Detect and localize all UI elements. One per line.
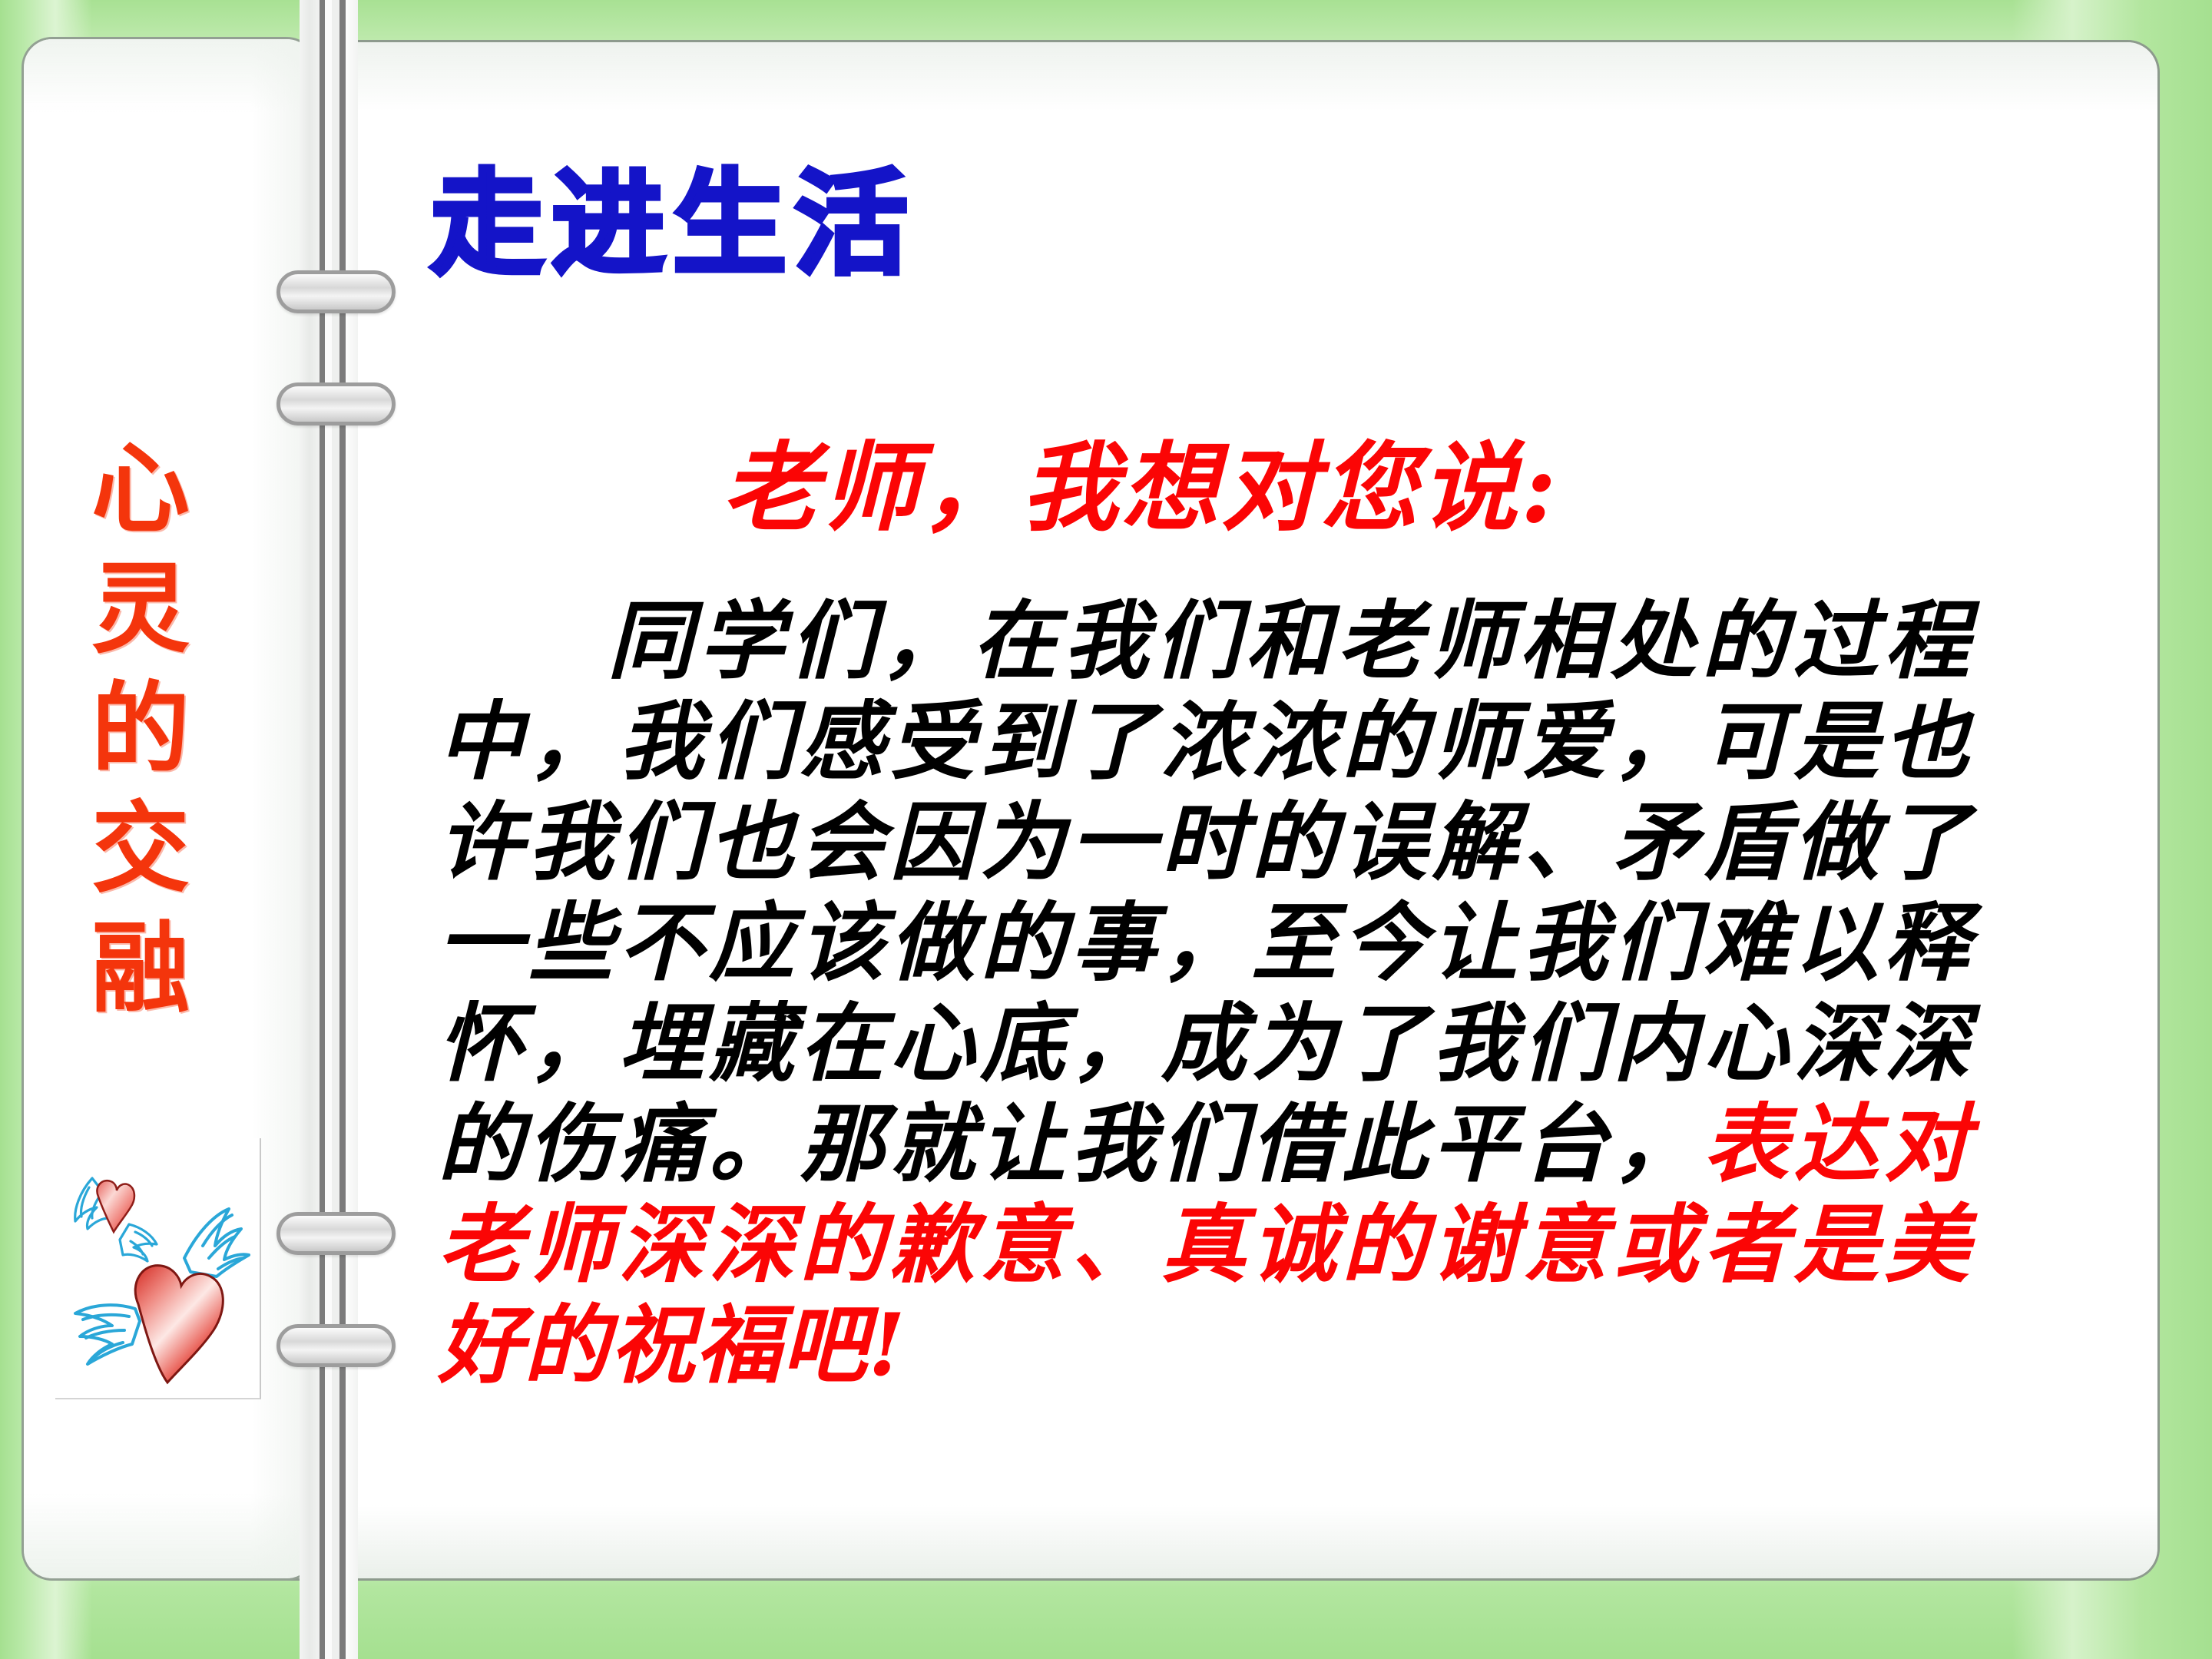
spine-band-1 <box>300 0 320 1659</box>
spine-band-2 <box>325 0 332 1659</box>
sidebar-vertical-title: 心 灵 的 交 融 <box>60 430 221 1029</box>
binder-ring-icon <box>276 1212 396 1255</box>
slide-root: 心 灵 的 交 融 <box>0 0 2212 1659</box>
spine-band-3 <box>332 0 339 1659</box>
notebook-spine <box>286 0 378 1659</box>
large-heart-icon <box>135 1266 223 1382</box>
winged-hearts-icon <box>55 1138 260 1398</box>
binder-ring-icon <box>276 382 396 426</box>
sidebar-title-char-1: 心 <box>60 430 221 550</box>
page-title: 走进生活 <box>430 158 916 290</box>
sidebar-title-char-2: 灵 <box>60 550 221 670</box>
binder-ring-icon <box>276 1324 396 1367</box>
body-paragraph: 同学们，在我们和老师相处的过程中，我们感受到了浓浓的师爱，可是也许我们也会因为一… <box>438 591 1970 1396</box>
winged-hearts-image <box>55 1138 261 1399</box>
sidebar-title-char-4: 交 <box>60 790 221 909</box>
spine-band-4 <box>346 0 358 1659</box>
spine-line-right <box>339 0 346 1659</box>
sidebar-title-char-5: 融 <box>60 909 221 1029</box>
sidebar-title-char-3: 的 <box>60 670 221 790</box>
section-heading: 老师，我想对您说: <box>722 430 1560 545</box>
binder-ring-icon <box>276 270 396 313</box>
spine-line-left <box>320 0 325 1659</box>
